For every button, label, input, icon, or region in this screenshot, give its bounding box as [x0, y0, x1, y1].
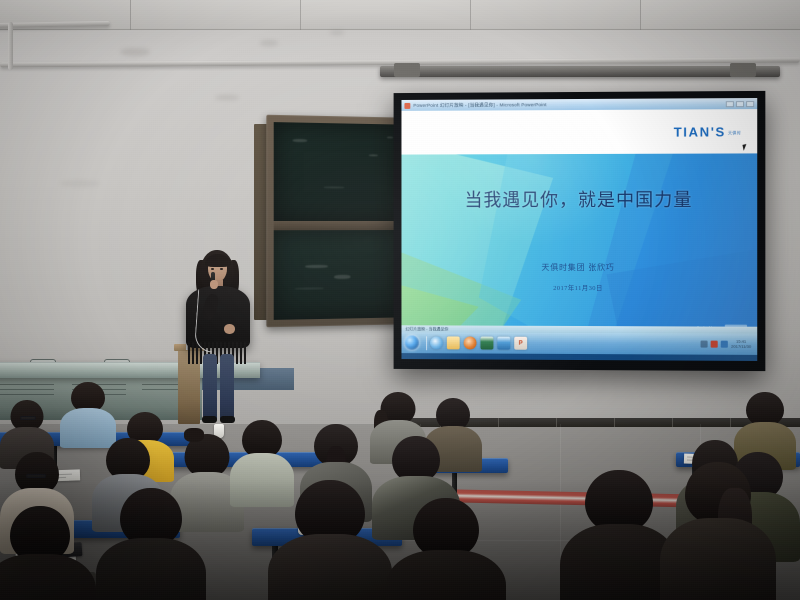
taskbar-crumb-text: 幻灯片放映 - 当我遇见你 [405, 326, 448, 332]
audience-person-foreground [0, 506, 96, 600]
ceiling [0, 0, 800, 30]
system-tray[interactable]: 15:41 2017/11/30 [701, 339, 754, 349]
excel-icon[interactable] [480, 337, 493, 350]
powerpoint-taskbar-icon[interactable]: P [514, 337, 527, 350]
maximize-button[interactable] [736, 101, 744, 107]
slide: TIAN'S 天俱时 当我遇见你，就是中国力量 天俱时集团 张欣巧 2017年1… [401, 109, 757, 333]
projected-desktop: PowerPoint 幻灯片放映 - [当我遇见你] - Microsoft P… [401, 98, 757, 361]
torso [0, 554, 96, 600]
glasses-icon [20, 416, 36, 420]
window-controls[interactable] [726, 101, 754, 107]
head [413, 498, 479, 558]
slide-author-line: 天俱时集团 张欣巧 [401, 262, 757, 274]
torso [386, 550, 506, 600]
internet-explorer-icon[interactable] [430, 336, 443, 349]
antivirus-icon[interactable] [711, 341, 718, 348]
audience-person-foreground [96, 488, 206, 600]
classroom-scene: PowerPoint 幻灯片放映 - [当我遇见你] - Microsoft P… [0, 0, 800, 600]
head [746, 392, 784, 426]
torso [660, 518, 776, 600]
projector-screen-mount [380, 66, 780, 77]
window-title: PowerPoint 幻灯片放映 - [当我遇见你] - Microsoft P… [413, 102, 546, 109]
logo-subtext: 天俱时 [728, 130, 741, 136]
audience-person-foreground [660, 462, 776, 600]
taskbar-divider [426, 336, 427, 350]
slide-title: 当我遇见你，就是中国力量 [401, 186, 757, 212]
taskbar-clock[interactable]: 15:41 2017/11/30 [731, 340, 751, 349]
presenter-hand-lower [224, 324, 235, 334]
close-button[interactable] [746, 101, 754, 107]
torso [268, 534, 392, 600]
audience-person [60, 382, 116, 444]
torso [96, 538, 206, 600]
network-icon[interactable] [701, 341, 708, 348]
volume-icon[interactable] [721, 341, 728, 348]
hair-bun [184, 428, 204, 442]
taskbar-upper-strip [401, 325, 757, 333]
minimize-button[interactable] [726, 101, 734, 107]
glasses-icon [26, 474, 46, 478]
clock-date: 2017/11/30 [731, 343, 751, 348]
presenter-legs [203, 354, 235, 420]
slide-body: 当我遇见你，就是中国力量 天俱时集团 张欣巧 2017年11月30日 www.t… [401, 153, 757, 332]
conduit-drop [8, 22, 13, 70]
window-icon[interactable] [497, 337, 510, 350]
powerpoint-icon [404, 102, 410, 108]
start-orb-icon[interactable] [404, 335, 419, 350]
folder-icon[interactable] [447, 336, 460, 349]
audience-person-foreground [268, 480, 392, 600]
windows-taskbar[interactable]: 幻灯片放映 - 当我遇见你 P 15:41 2017/11/30 [401, 331, 757, 355]
media-player-icon[interactable] [464, 336, 477, 349]
head [585, 470, 653, 532]
slide-date-line: 2017年11月30日 [401, 282, 757, 293]
presenter-hand [210, 280, 218, 289]
logo-wordmark: TIAN'S [674, 124, 726, 139]
projection-screen: PowerPoint 幻灯片放映 - [当我遇见你] - Microsoft P… [394, 91, 766, 371]
slide-header-band: TIAN'S 天俱时 [401, 109, 757, 155]
tians-logo: TIAN'S 天俱时 [674, 124, 741, 139]
audience-person-foreground [386, 498, 506, 600]
